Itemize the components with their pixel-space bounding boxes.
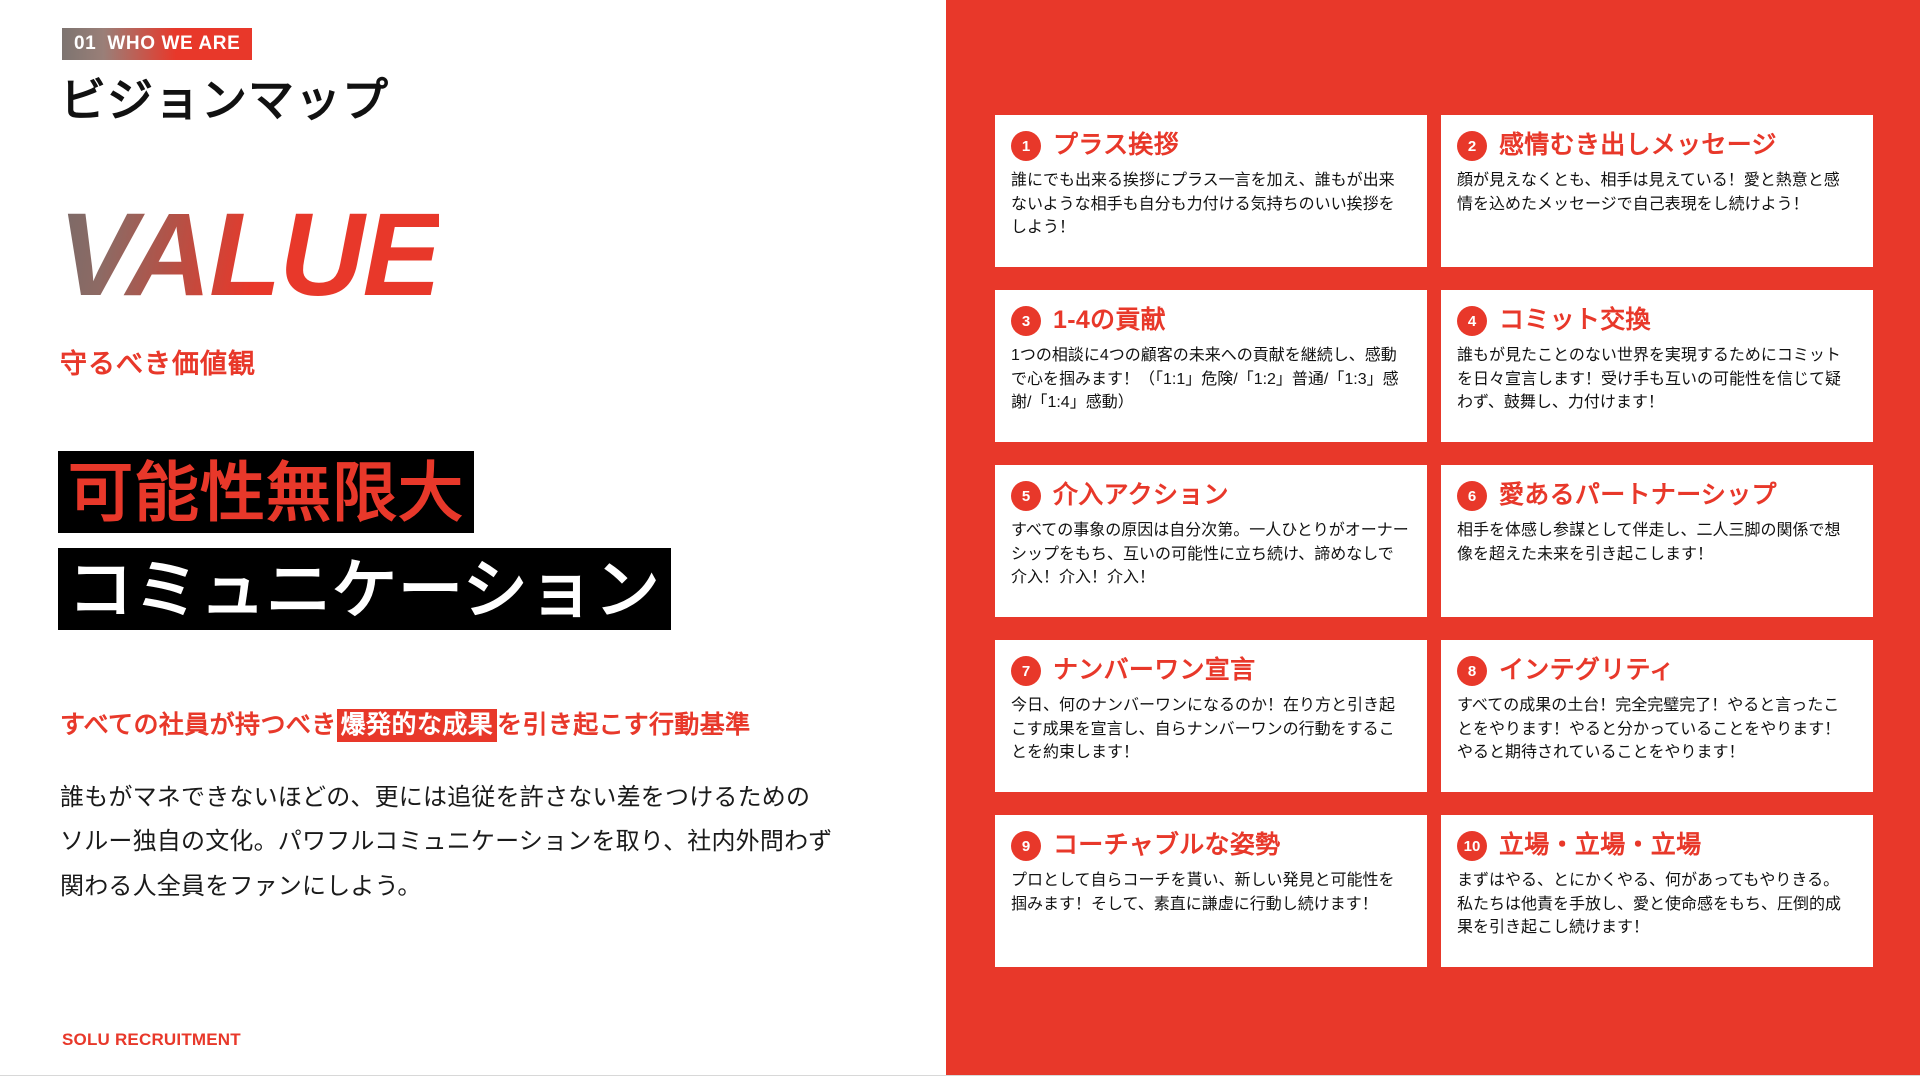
value-card-grid: 1 プラス挨拶 誰にでも出来る挨拶にプラス一言を加え、誰もが出来ないような相手も… [995,115,1873,967]
card-title: 感情むき出しメッセージ [1499,132,1777,160]
card-title: 介入アクション [1053,482,1229,510]
value-card: 2 感情むき出しメッセージ 顔が見えなくとも、相手は見えている！愛と熱意と感情を… [1441,115,1873,267]
slide-canvas: 01 WHO WE ARE ビジョンマップ VALUE 守るべき価値観 可能性無… [0,0,1920,1080]
card-title: 1-4の貢献 [1053,307,1166,335]
headline-bar-possibility: 可能性無限大 [58,451,474,533]
value-card: 8 インテグリティ すべての成果の土台！完全完璧完了！やると言ったことをやります… [1441,640,1873,792]
card-header: 5 介入アクション [1011,481,1409,511]
card-header: 1 プラス挨拶 [1011,131,1409,161]
card-number-badge: 8 [1457,656,1487,686]
card-number-badge: 7 [1011,656,1041,686]
body-copy-line: 関わる人全員をファンにしよう。 [60,865,920,909]
card-header: 6 愛あるパートナーシップ [1457,481,1855,511]
right-red-panel: 1 プラス挨拶 誰にでも出来る挨拶にプラス一言を加え、誰もが出来ないような相手も… [946,0,1920,1075]
value-subtitle: 守るべき価値観 [60,342,256,381]
card-number-badge: 2 [1457,131,1487,161]
card-number-badge: 3 [1011,306,1041,336]
body-copy: 誰もがマネできないほどの、更には追従を許さない差をつけるための ソルー独自の文化… [60,776,920,909]
body-copy-line: ソルー独自の文化。パワフルコミュニケーションを取り、社内外問わず [60,820,920,864]
value-card: 9 コーチャブルな姿勢 プロとして自らコーチを貰い、新しい発見と可能性を掴みます… [995,815,1427,967]
card-body: 顔が見えなくとも、相手は見えている！愛と熱意と感情を込めたメッセージで自己表現を… [1457,169,1855,216]
card-body: プロとして自らコーチを貰い、新しい発見と可能性を掴みます！そして、素直に謙虚に行… [1011,869,1409,916]
card-body: 誰にでも出来る挨拶にプラス一言を加え、誰もが出来ないような相手も自分も力付ける気… [1011,169,1409,240]
body-copy-line: 誰もがマネできないほどの、更には追従を許さない差をつけるための [60,776,920,820]
card-header: 3 1-4の貢献 [1011,306,1409,336]
tagline-before: すべての社員が持つべき [60,711,337,739]
card-title: 愛あるパートナーシップ [1499,482,1777,510]
value-card: 10 立場・立場・立場 まずはやる、とにかくやる、何があってもやりきる。私たちは… [1441,815,1873,967]
value-wordmark: VALUE [58,196,439,314]
headline-bar-communication: コミュニケーション [58,548,671,630]
card-header: 8 インテグリティ [1457,656,1855,686]
card-number-badge: 1 [1011,131,1041,161]
section-tag-number: 01 [74,33,96,55]
card-number-badge: 4 [1457,306,1487,336]
page-title: ビジョンマップ [60,74,389,127]
card-title: プラス挨拶 [1053,132,1179,160]
card-header: 9 コーチャブルな姿勢 [1011,831,1409,861]
card-title: 立場・立場・立場 [1499,832,1701,860]
card-title: インテグリティ [1499,657,1675,685]
left-column: 01 WHO WE ARE ビジョンマップ VALUE 守るべき価値観 可能性無… [0,0,946,1080]
footer-brand: SOLU RECRUITMENT [62,1030,241,1050]
card-body: 誰もが見たことのない世界を実現するためにコミットを日々宣言します！受け手も互いの… [1457,344,1855,415]
section-tag-label: WHO WE ARE [107,33,240,55]
card-number-badge: 6 [1457,481,1487,511]
card-body: すべての事象の原因は自分次第。一人ひとりがオーナーシップをもち、互いの可能性に立… [1011,519,1409,590]
card-number-badge: 10 [1457,831,1487,861]
tagline-after: を引き起こす行動基準 [497,711,751,739]
value-card: 5 介入アクション すべての事象の原因は自分次第。一人ひとりがオーナーシップをも… [995,465,1427,617]
bottom-edge-strip [0,1075,1920,1080]
card-body: 相手を体感し参謀として伴走し、二人三脚の関係で想像を超えた未来を引き起こします！ [1457,519,1855,566]
card-number-badge: 5 [1011,481,1041,511]
card-header: 7 ナンバーワン宣言 [1011,656,1409,686]
card-title: コーチャブルな姿勢 [1053,832,1280,860]
card-number-badge: 9 [1011,831,1041,861]
value-card: 6 愛あるパートナーシップ 相手を体感し参謀として伴走し、二人三脚の関係で想像を… [1441,465,1873,617]
card-header: 4 コミット交換 [1457,306,1855,336]
card-header: 2 感情むき出しメッセージ [1457,131,1855,161]
card-body: 1つの相談に4つの顧客の未来への貢献を継続し、感動で心を掴みます！（「1:1」危… [1011,344,1409,415]
value-card: 4 コミット交換 誰もが見たことのない世界を実現するためにコミットを日々宣言しま… [1441,290,1873,442]
value-card: 3 1-4の貢献 1つの相談に4つの顧客の未来への貢献を継続し、感動で心を掴みま… [995,290,1427,442]
card-header: 10 立場・立場・立場 [1457,831,1855,861]
card-body: まずはやる、とにかくやる、何があってもやりきる。私たちは他責を手放し、愛と使命感… [1457,869,1855,940]
section-tag-badge: 01 WHO WE ARE [62,28,252,60]
tagline-highlight: 爆発的な成果 [337,709,497,742]
tagline: すべての社員が持つべき爆発的な成果を引き起こす行動基準 [60,705,751,741]
value-card: 1 プラス挨拶 誰にでも出来る挨拶にプラス一言を加え、誰もが出来ないような相手も… [995,115,1427,267]
value-card: 7 ナンバーワン宣言 今日、何のナンバーワンになるのか！在り方と引き起こす成果を… [995,640,1427,792]
card-body: すべての成果の土台！完全完璧完了！やると言ったことをやります！やると分かっている… [1457,694,1855,765]
card-title: ナンバーワン宣言 [1053,657,1255,685]
card-title: コミット交換 [1499,307,1651,335]
card-body: 今日、何のナンバーワンになるのか！在り方と引き起こす成果を宣言し、自らナンバーワ… [1011,694,1409,765]
